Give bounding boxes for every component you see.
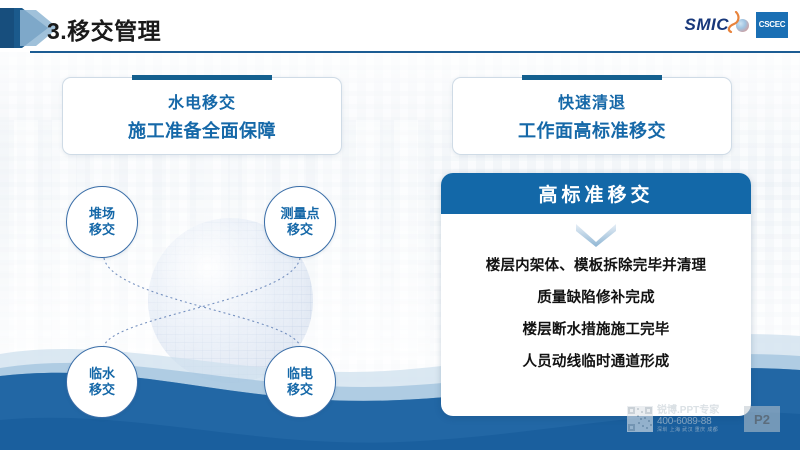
panel-item-3: 楼层断水措施施工完毕 — [523, 318, 670, 339]
card-left-line1: 水电移交 — [168, 89, 236, 113]
header-divider — [30, 51, 800, 53]
circle-stockyard-line1: 堆场 — [89, 206, 115, 222]
smic-swoosh-icon — [725, 11, 740, 33]
circle-connectors — [0, 0, 430, 450]
watermark: 锐博.PPT专家 400-6089-88 深圳 上海 武汉 重庆 成都 — [627, 406, 719, 433]
circle-survey-line2: 移交 — [287, 222, 313, 238]
panel-item-4: 人员动线临时通道形成 — [523, 350, 670, 371]
watermark-text: 锐博.PPT专家 400-6089-88 深圳 上海 武汉 重庆 成都 — [657, 406, 719, 433]
panel-heading: 高标准移交 — [441, 173, 751, 214]
circle-survey-line1: 测量点 — [280, 206, 319, 222]
circle-temp-power-line2: 移交 — [287, 382, 313, 398]
card-accent-bar — [522, 75, 662, 80]
watermark-phone: 400-6089-88 — [657, 417, 719, 428]
cscec-logo: CSCEC — [756, 12, 788, 38]
circle-temp-power-line1: 临电 — [287, 366, 313, 382]
card-right: 快速清退 工作面高标准移交 — [452, 77, 732, 155]
page-title: 3.移交管理 — [47, 12, 161, 46]
card-left-line2: 施工准备全面保障 — [128, 117, 276, 143]
smic-logo-text: SMIC — [685, 15, 730, 34]
card-accent-bar — [132, 75, 272, 80]
smic-logo: SMIC — [685, 15, 730, 35]
circle-stockyard-line2: 移交 — [89, 222, 115, 238]
logo-group: SMIC CSCEC — [685, 12, 789, 38]
card-right-line1: 快速清退 — [558, 89, 626, 113]
slide-canvas: 3.移交管理 SMIC CSCEC 水电移交 施工准备全面保障 快速清退 工作面… — [0, 0, 800, 450]
watermark-cities: 深圳 上海 武汉 重庆 成都 — [657, 428, 719, 433]
standards-panel: 高标准移交 楼层内架体、模板拆除完毕并清理 质量缺陷修补完成 楼层断水措施施工完… — [441, 173, 751, 416]
circle-survey[interactable]: 测量点 移交 — [264, 186, 336, 258]
card-right-line2: 工作面高标准移交 — [518, 117, 666, 143]
panel-item-1: 楼层内架体、模板拆除完毕并清理 — [486, 254, 707, 275]
panel-body: 楼层内架体、模板拆除完毕并清理 质量缺陷修补完成 楼层断水措施施工完毕 人员动线… — [441, 214, 751, 379]
circle-temp-water[interactable]: 临水 移交 — [66, 346, 138, 418]
card-left: 水电移交 施工准备全面保障 — [62, 77, 342, 155]
circle-temp-water-line1: 临水 — [89, 366, 115, 382]
qr-code-icon — [627, 406, 653, 432]
circle-temp-water-line2: 移交 — [89, 382, 115, 398]
page-number-badge: P2 — [744, 406, 780, 432]
circle-temp-power[interactable]: 临电 移交 — [264, 346, 336, 418]
panel-item-2: 质量缺陷修补完成 — [537, 286, 655, 307]
panel-item-list: 楼层内架体、模板拆除完毕并清理 质量缺陷修补完成 楼层断水措施施工完毕 人员动线… — [451, 254, 741, 371]
chevron-down-icon — [451, 222, 741, 248]
circle-stockyard[interactable]: 堆场 移交 — [66, 186, 138, 258]
